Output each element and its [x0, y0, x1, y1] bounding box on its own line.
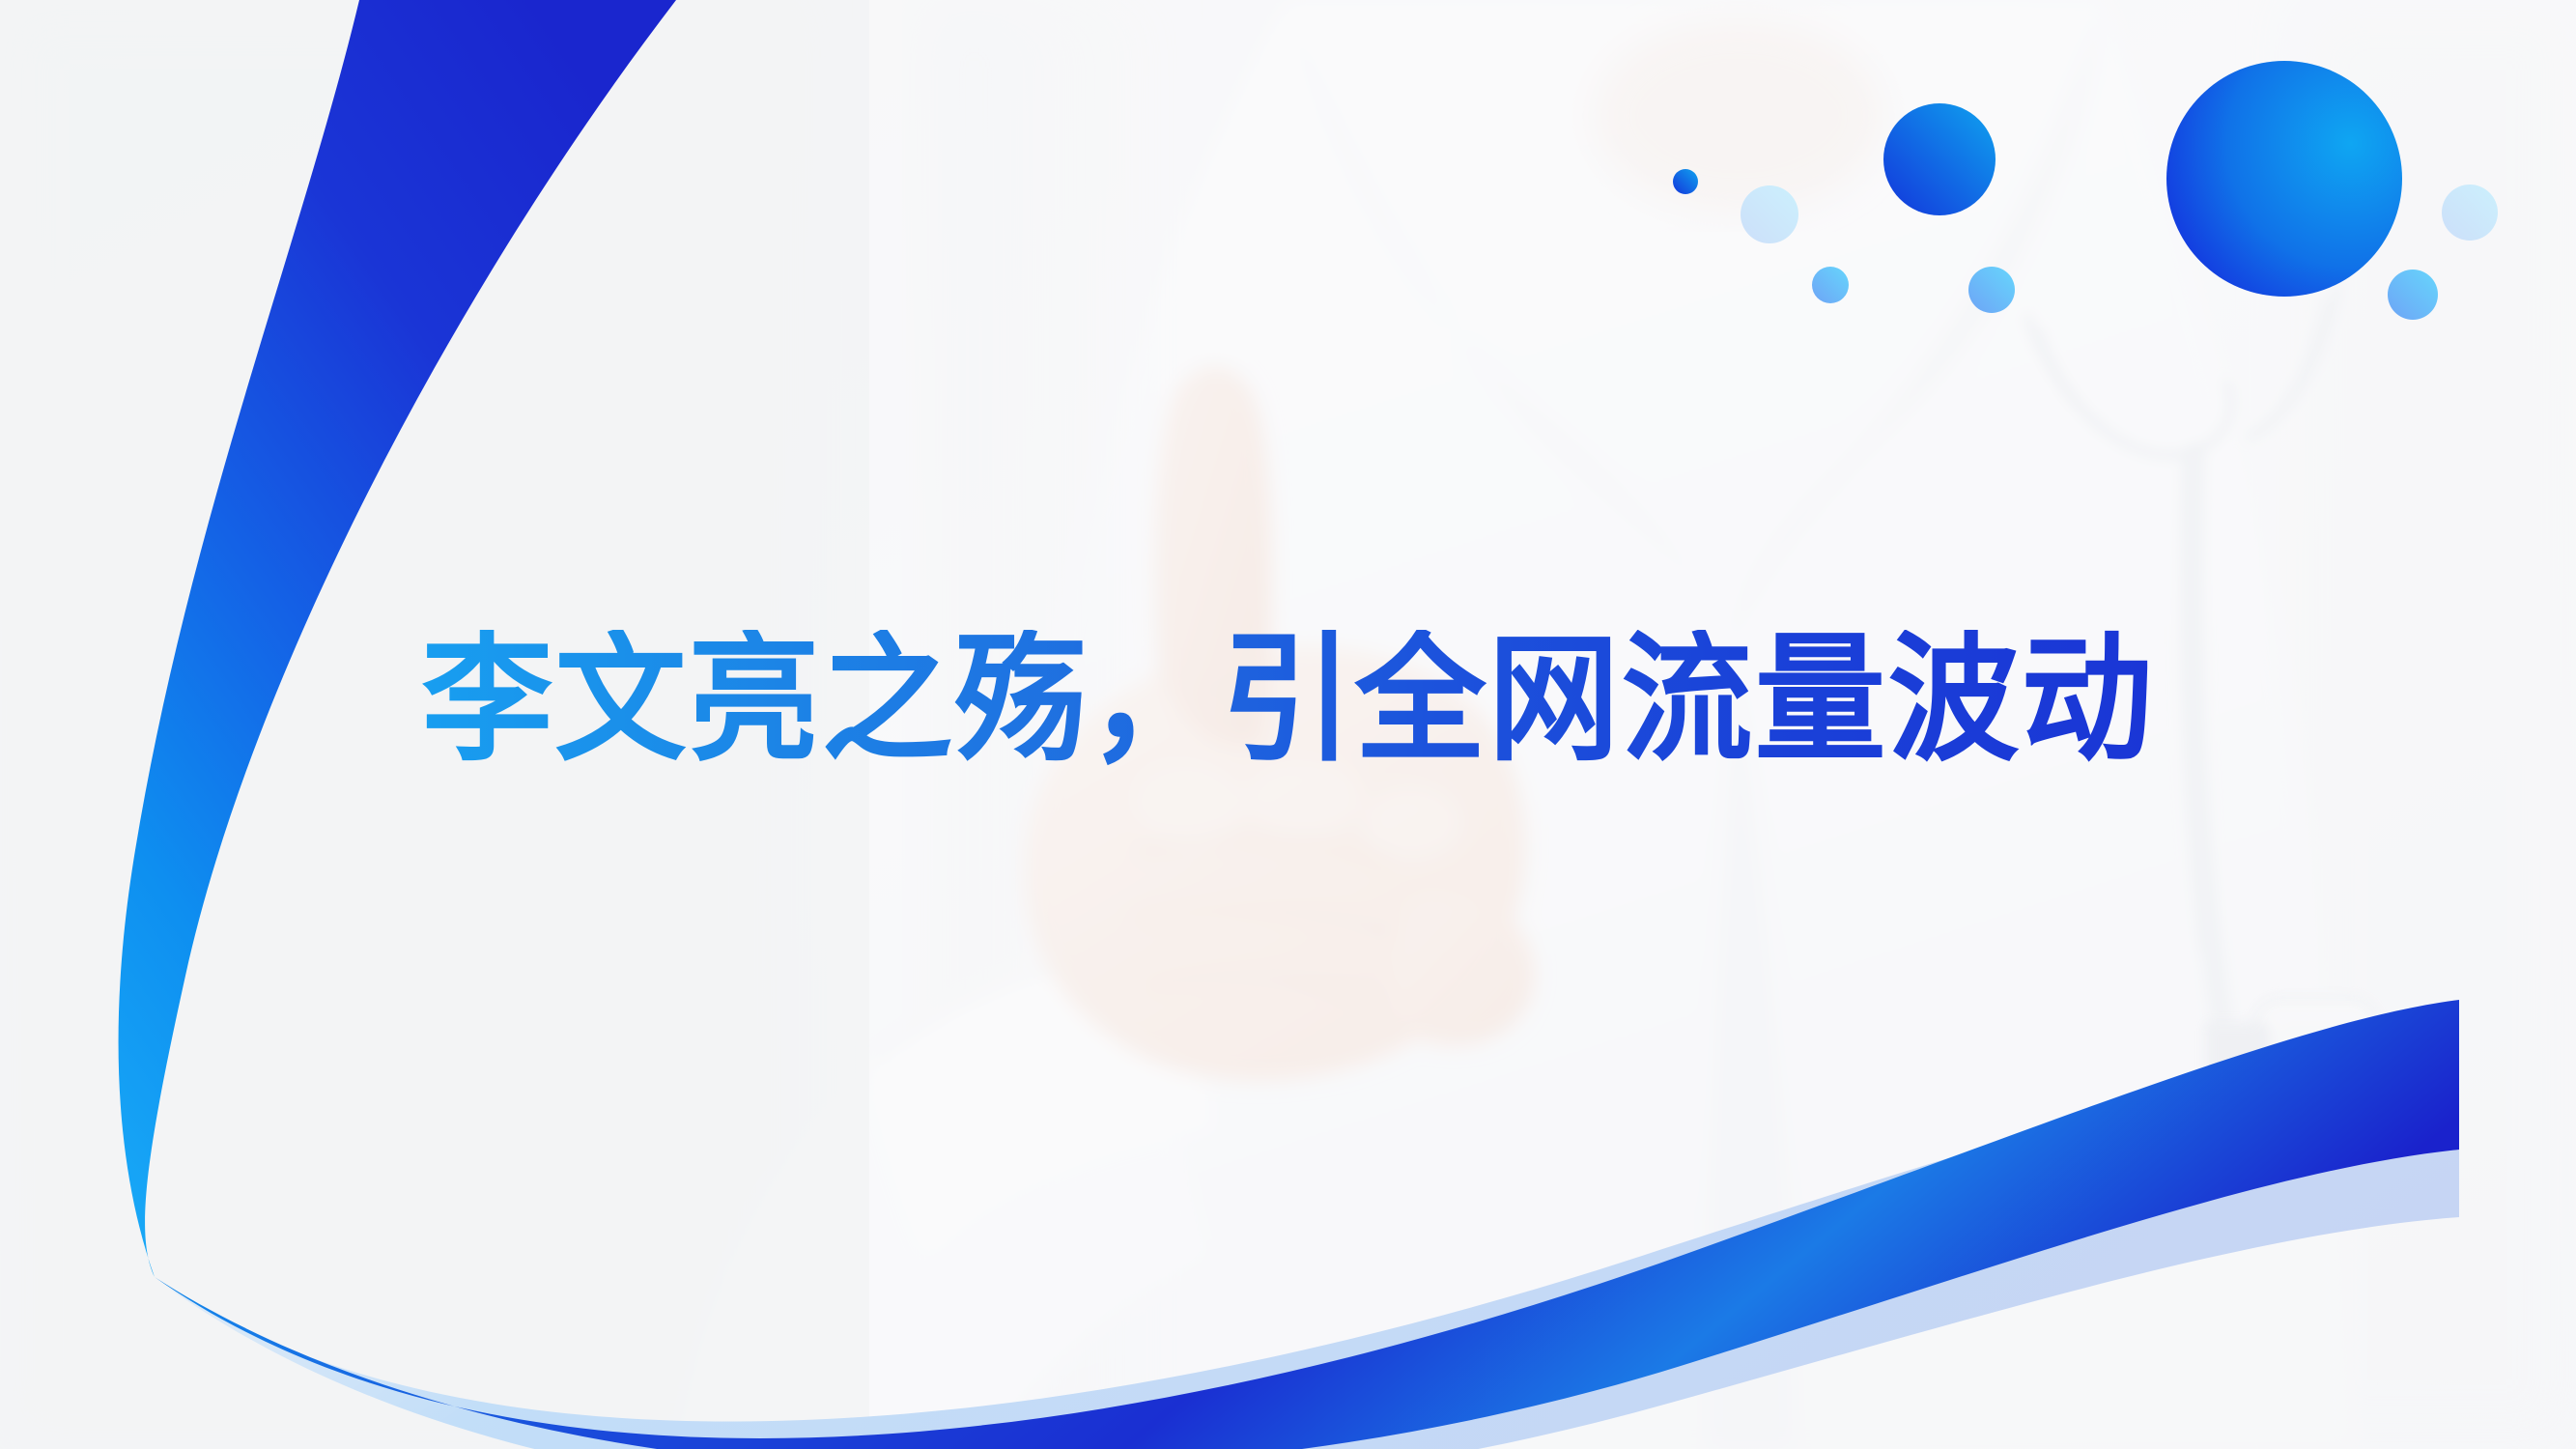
- circle-sky-small: [1812, 267, 1849, 303]
- circle-sky-mid: [1968, 267, 2015, 313]
- decorative-circles: [1673, 61, 2498, 320]
- circle-pale-right: [2442, 185, 2498, 241]
- left-swoosh: [119, 0, 676, 1277]
- bottom-wave-dark: [155, 1000, 2459, 1449]
- circle-large-right: [2166, 61, 2402, 297]
- decorative-shapes: [0, 0, 2576, 1449]
- circle-tiny-dark: [1673, 169, 1698, 194]
- circle-pale-left: [1741, 185, 1798, 243]
- circle-sky-right: [2388, 270, 2438, 320]
- presentation-slide: 李文亮之殇，引全网流量波动: [0, 0, 2576, 1449]
- decoration-layer: [0, 0, 2576, 1449]
- circle-medium: [1883, 103, 1996, 215]
